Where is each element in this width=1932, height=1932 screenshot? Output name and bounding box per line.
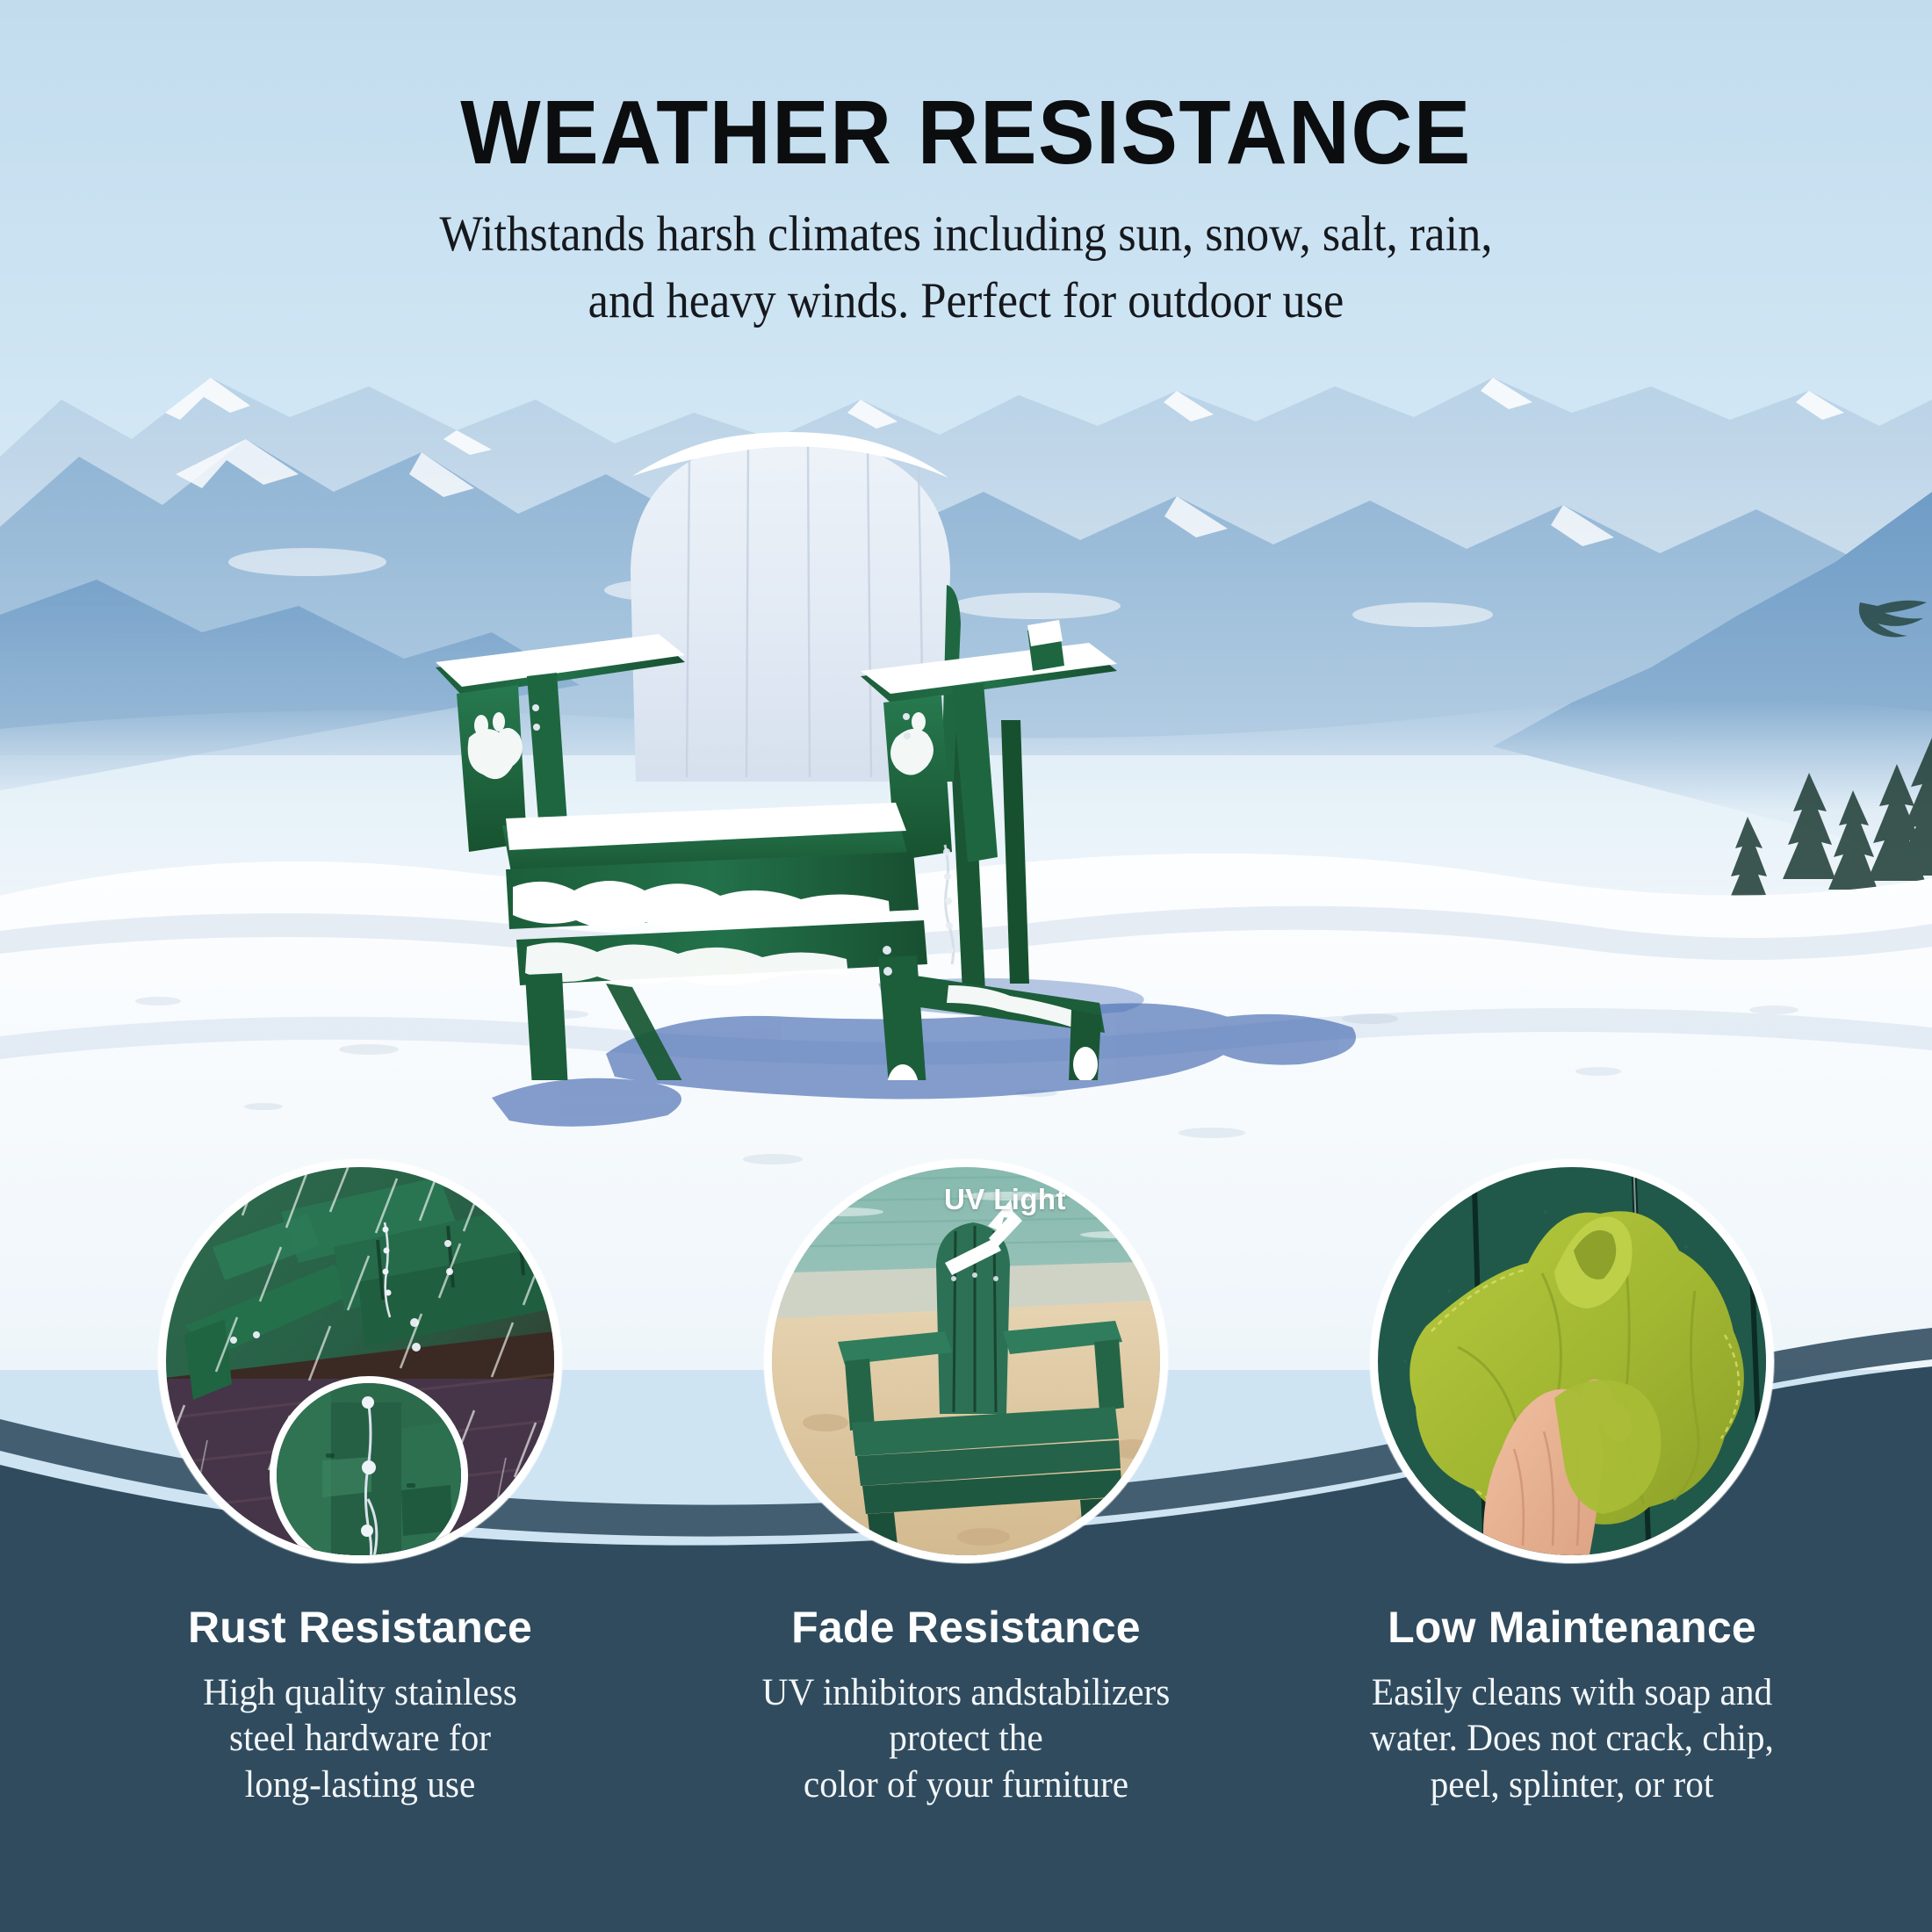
feature-image-low-maintenance	[1370, 1159, 1774, 1563]
desc-line-2: steel hardware for	[102, 1716, 618, 1762]
subtitle-line-2: and heavy winds. Perfect for outdoor use	[77, 268, 1855, 335]
desc-line-1: UV inhibitors andstabilizers	[708, 1670, 1224, 1716]
desc-line-1: High quality stainless	[102, 1670, 618, 1716]
desc-line-2: water. Does not crack, chip,	[1314, 1716, 1830, 1762]
feature-desc-rust-resistance: High quality stainless steel hardware fo…	[90, 1670, 630, 1808]
feature-low-maintenance: Low Maintenance Easily cleans with soap …	[1291, 1159, 1853, 1932]
hero-chair-image	[422, 413, 1159, 1080]
uv-light-label: UV Light	[944, 1183, 1066, 1216]
desc-line-1: Easily cleans with soap and	[1314, 1670, 1830, 1716]
feature-rust-resistance: Rust Resistance High quality stainless s…	[79, 1159, 641, 1932]
feature-list: Rust Resistance High quality stainless s…	[0, 1159, 1932, 1932]
header: WEATHER RESISTANCE Withstands harsh clim…	[0, 86, 1932, 335]
page-subtitle: Withstands harsh climates including sun,…	[77, 201, 1855, 335]
feature-image-fade-resistance: UV Light	[764, 1159, 1168, 1563]
desc-line-3: color of your furniture	[708, 1763, 1224, 1808]
feature-image-rust-resistance	[158, 1159, 562, 1563]
inset-detail-stainless-chain	[270, 1376, 468, 1563]
infographic-canvas: WEATHER RESISTANCE Withstands harsh clim…	[0, 0, 1932, 1932]
desc-line-3: peel, splinter, or rot	[1314, 1763, 1830, 1808]
feature-title-low-maintenance: Low Maintenance	[1291, 1602, 1853, 1653]
feature-desc-fade-resistance: UV inhibitors andstabilizers protect the…	[696, 1670, 1236, 1808]
desc-line-2: protect the	[708, 1716, 1224, 1762]
feature-title-fade-resistance: Fade Resistance	[685, 1602, 1247, 1653]
desc-line-3: long-lasting use	[102, 1763, 618, 1808]
feature-fade-resistance: UV Light Fade Resistance UV inhibitors a…	[685, 1159, 1247, 1932]
feature-title-rust-resistance: Rust Resistance	[79, 1602, 641, 1653]
feature-desc-low-maintenance: Easily cleans with soap and water. Does …	[1302, 1670, 1842, 1808]
subtitle-line-1: Withstands harsh climates including sun,…	[77, 201, 1855, 268]
page-title: WEATHER RESISTANCE	[58, 86, 1874, 178]
